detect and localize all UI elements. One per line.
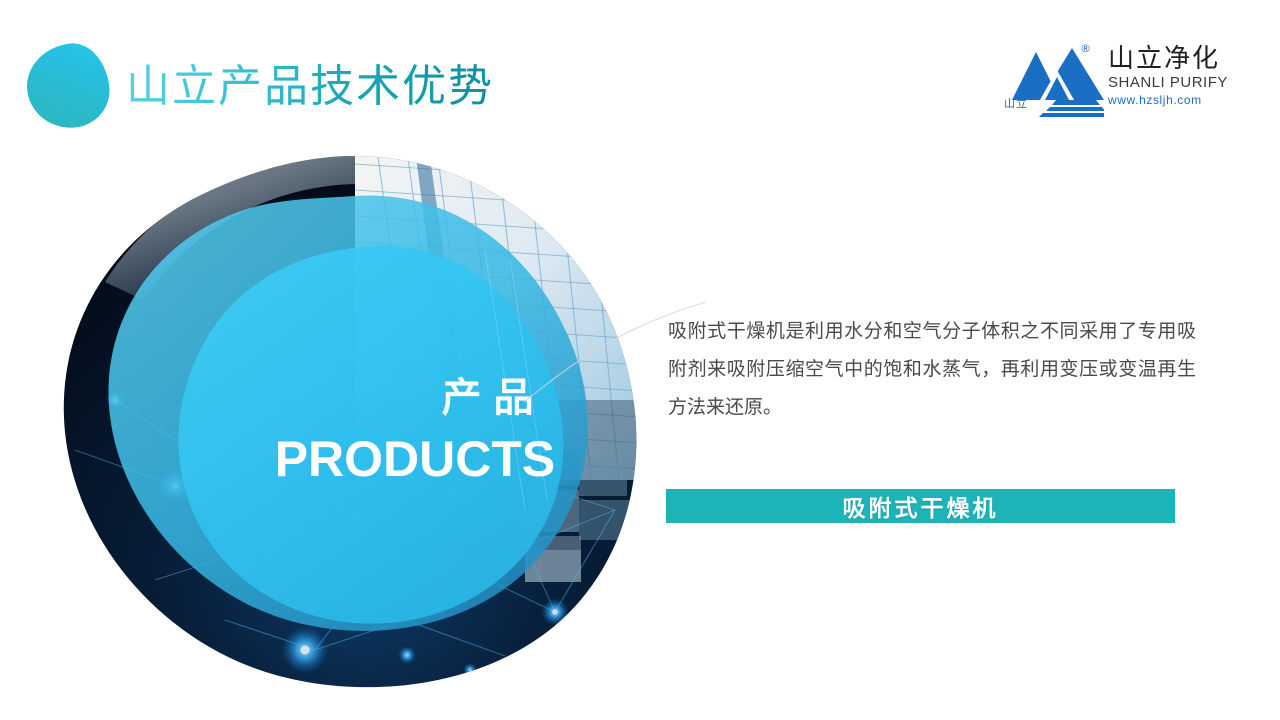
logo-website-url: www.hzsljh.com [1108, 92, 1236, 108]
registered-trademark-icon: ® [1080, 42, 1091, 55]
company-logo: ® 山立 山立净化 SHANLI PURIFY www.hzsljh.com [1004, 40, 1234, 124]
logo-company-cn: 山立净化 [1108, 44, 1236, 74]
logo-company-en: SHANLI PURIFY [1108, 74, 1236, 92]
page-title: 山立产品技术优势 [126, 59, 494, 115]
logo-mark-label: 山立 [1004, 95, 1028, 111]
product-name-banner[interactable]: 吸附式干燥机 [666, 489, 1175, 523]
header-decorative-blob [23, 40, 113, 132]
product-name-label: 吸附式干燥机 [843, 489, 999, 523]
hero-graphic: 产品 PRODUCTS [55, 150, 655, 695]
slide-canvas: 山立产品技术优势 ® 山立 山立净化 SHANLI PURIFY www.hzs… [0, 0, 1280, 720]
hero-blob-illustration [55, 150, 655, 695]
hero-inner-blob [178, 246, 563, 624]
product-description: 吸附式干燥机是利用水分和空气分子体积之不同采用了专用吸附剂来吸附压缩空气中的饱和… [668, 312, 1196, 426]
logo-wordmark: 山立净化 SHANLI PURIFY www.hzsljh.com [1108, 44, 1236, 108]
